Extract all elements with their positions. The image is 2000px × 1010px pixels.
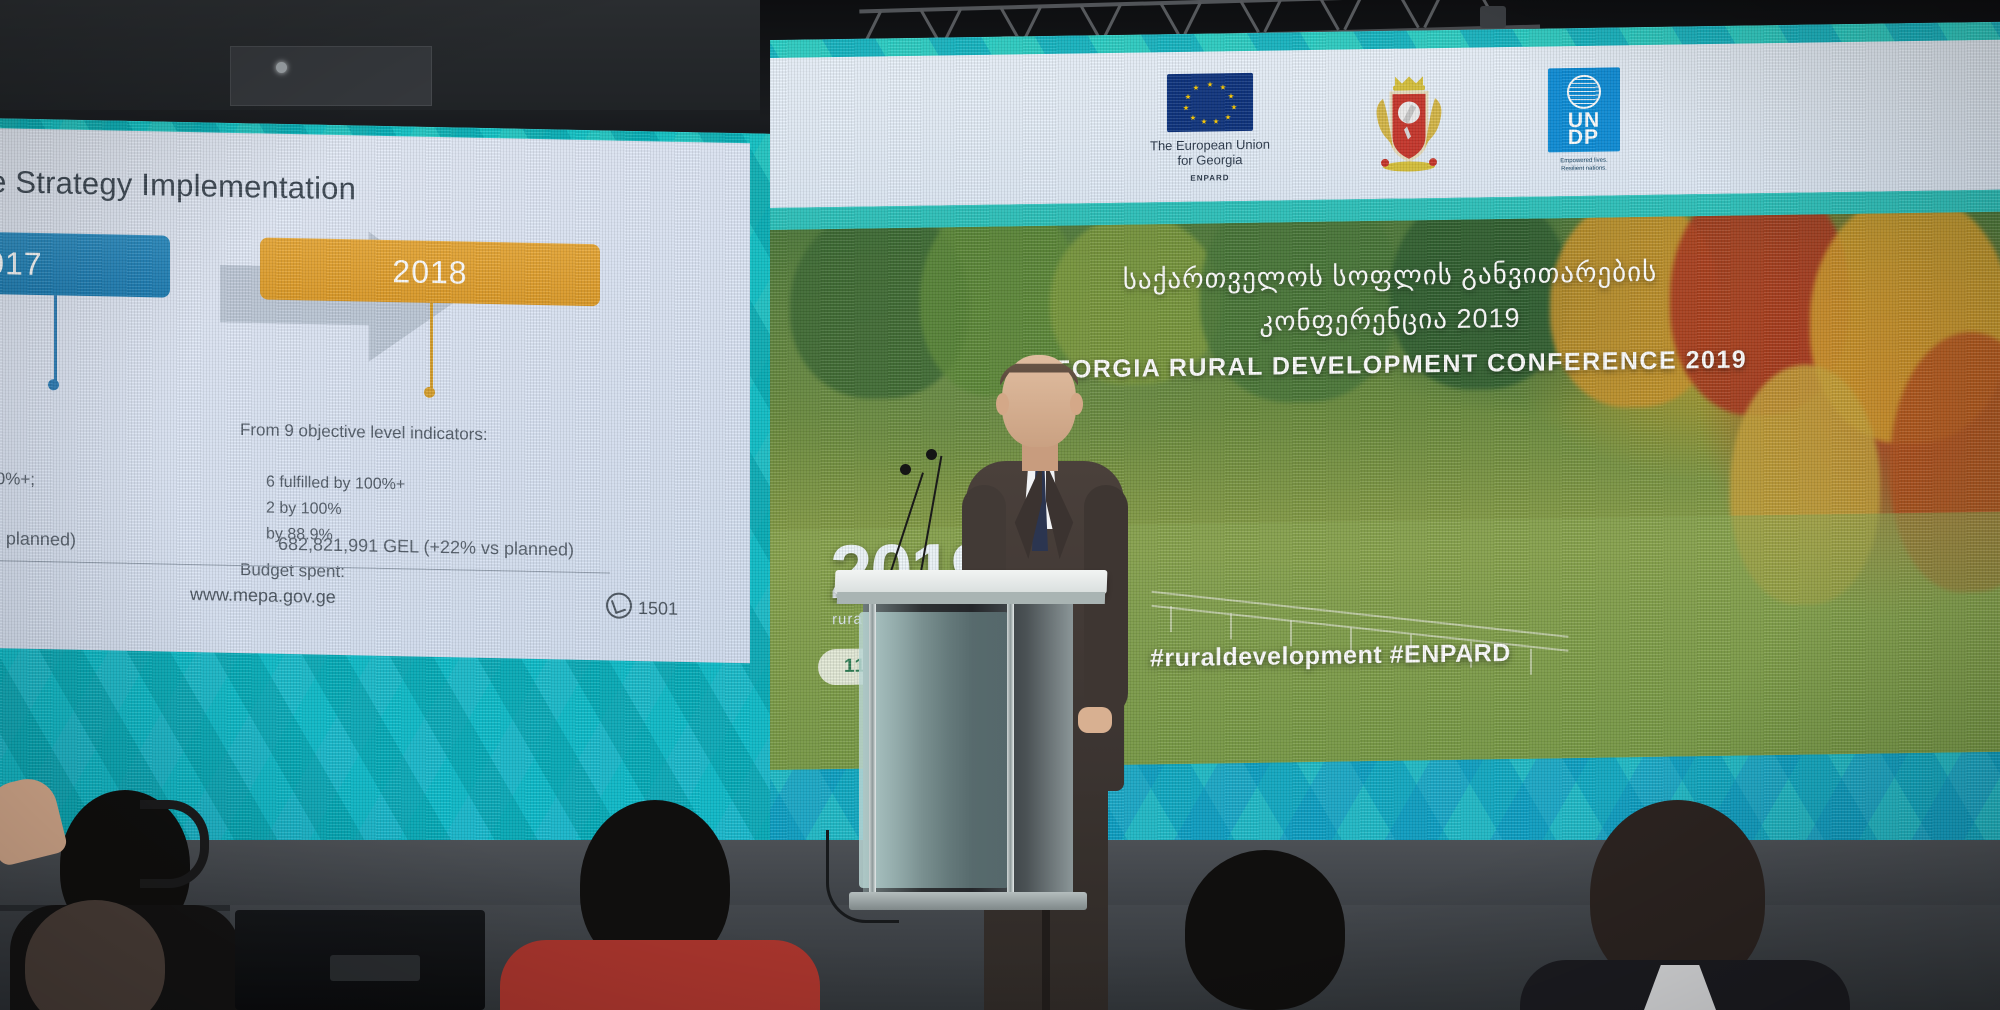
presentation-slide-results: ults of the Strategy Implementation 2017…	[0, 127, 750, 663]
audience-head	[1185, 850, 1345, 1010]
undp-caption-line2: Resilient nations.	[1561, 166, 1607, 173]
podium-top-surface	[835, 570, 1108, 594]
slide-title: ults of the Strategy Implementation	[0, 162, 356, 208]
connector-dot-2017	[48, 379, 59, 390]
left-indicator-column: level indicators: d by 100% or 100%+; d …	[0, 410, 212, 549]
undp-letters: UNDP	[1568, 112, 1600, 146]
connector-line-2017	[54, 295, 57, 381]
speaker-ear	[1070, 393, 1083, 415]
partner-logos-row: The European Union for Georgia ENPARD	[1150, 67, 1620, 184]
hotline-number: 1501	[638, 598, 678, 619]
podium-top-edge	[837, 592, 1105, 604]
year-chip-2018: 2018	[260, 237, 600, 306]
microphone-head	[926, 449, 937, 460]
eu-logo-caption: The European Union for Georgia ENPARD	[1150, 137, 1270, 187]
eu-flag-logo: The European Union for Georgia ENPARD	[1150, 73, 1270, 187]
eu-caption-enpard: ENPARD	[1150, 170, 1270, 187]
speaker-ear	[996, 393, 1009, 415]
av-console-panel	[330, 955, 420, 981]
undp-caption-line1: Empowered lives.	[1560, 158, 1607, 165]
slide-hotline: 1501	[606, 592, 678, 619]
conference-hashtags: #ruraldevelopment #ENPARD	[1150, 639, 1511, 673]
undp-globe-icon	[1567, 75, 1601, 110]
podium-cable	[826, 830, 899, 923]
podium-rail	[1007, 604, 1014, 900]
year-2017-label: 2017	[0, 244, 43, 283]
connector-line-2018	[430, 303, 433, 389]
georgia-coat-of-arms	[1363, 70, 1455, 175]
ceiling-spot-light	[276, 62, 287, 73]
screenshot-root: ults of the Strategy Implementation 2017…	[0, 0, 2000, 1010]
eu-caption-line1: The European Union	[1150, 137, 1270, 154]
right-indicator-column: From 9 objective level indicators: 6 ful…	[240, 417, 620, 591]
undp-icon: UNDP	[1548, 67, 1620, 152]
slide-website: www.mepa.gov.ge	[190, 584, 336, 608]
year-2018-label: 2018	[392, 253, 467, 292]
eu-caption-line2: for Georgia	[1177, 152, 1242, 168]
ceiling-light-panel	[230, 46, 432, 106]
left-column-heading: level indicators:	[0, 410, 212, 443]
led-wall-left: ults of the Strategy Implementation 2017…	[0, 118, 772, 884]
year-chip-2017: 2017	[0, 229, 170, 298]
connector-dot-2018	[424, 387, 435, 398]
stage-spotlight	[1480, 6, 1506, 28]
left-column-amount: EL (+38.3% vs planned)	[0, 526, 76, 551]
undp-logo: UNDP Empowered lives. Resilient nations.	[1548, 67, 1620, 173]
microphone-head	[900, 464, 911, 475]
headphone-band	[140, 800, 209, 888]
phone-icon	[606, 592, 632, 619]
audience-shoulders	[500, 940, 820, 1010]
undp-caption: Empowered lives. Resilient nations.	[1549, 156, 1619, 173]
coat-of-arms-icon	[1363, 70, 1455, 175]
eu-flag-icon	[1167, 73, 1253, 132]
